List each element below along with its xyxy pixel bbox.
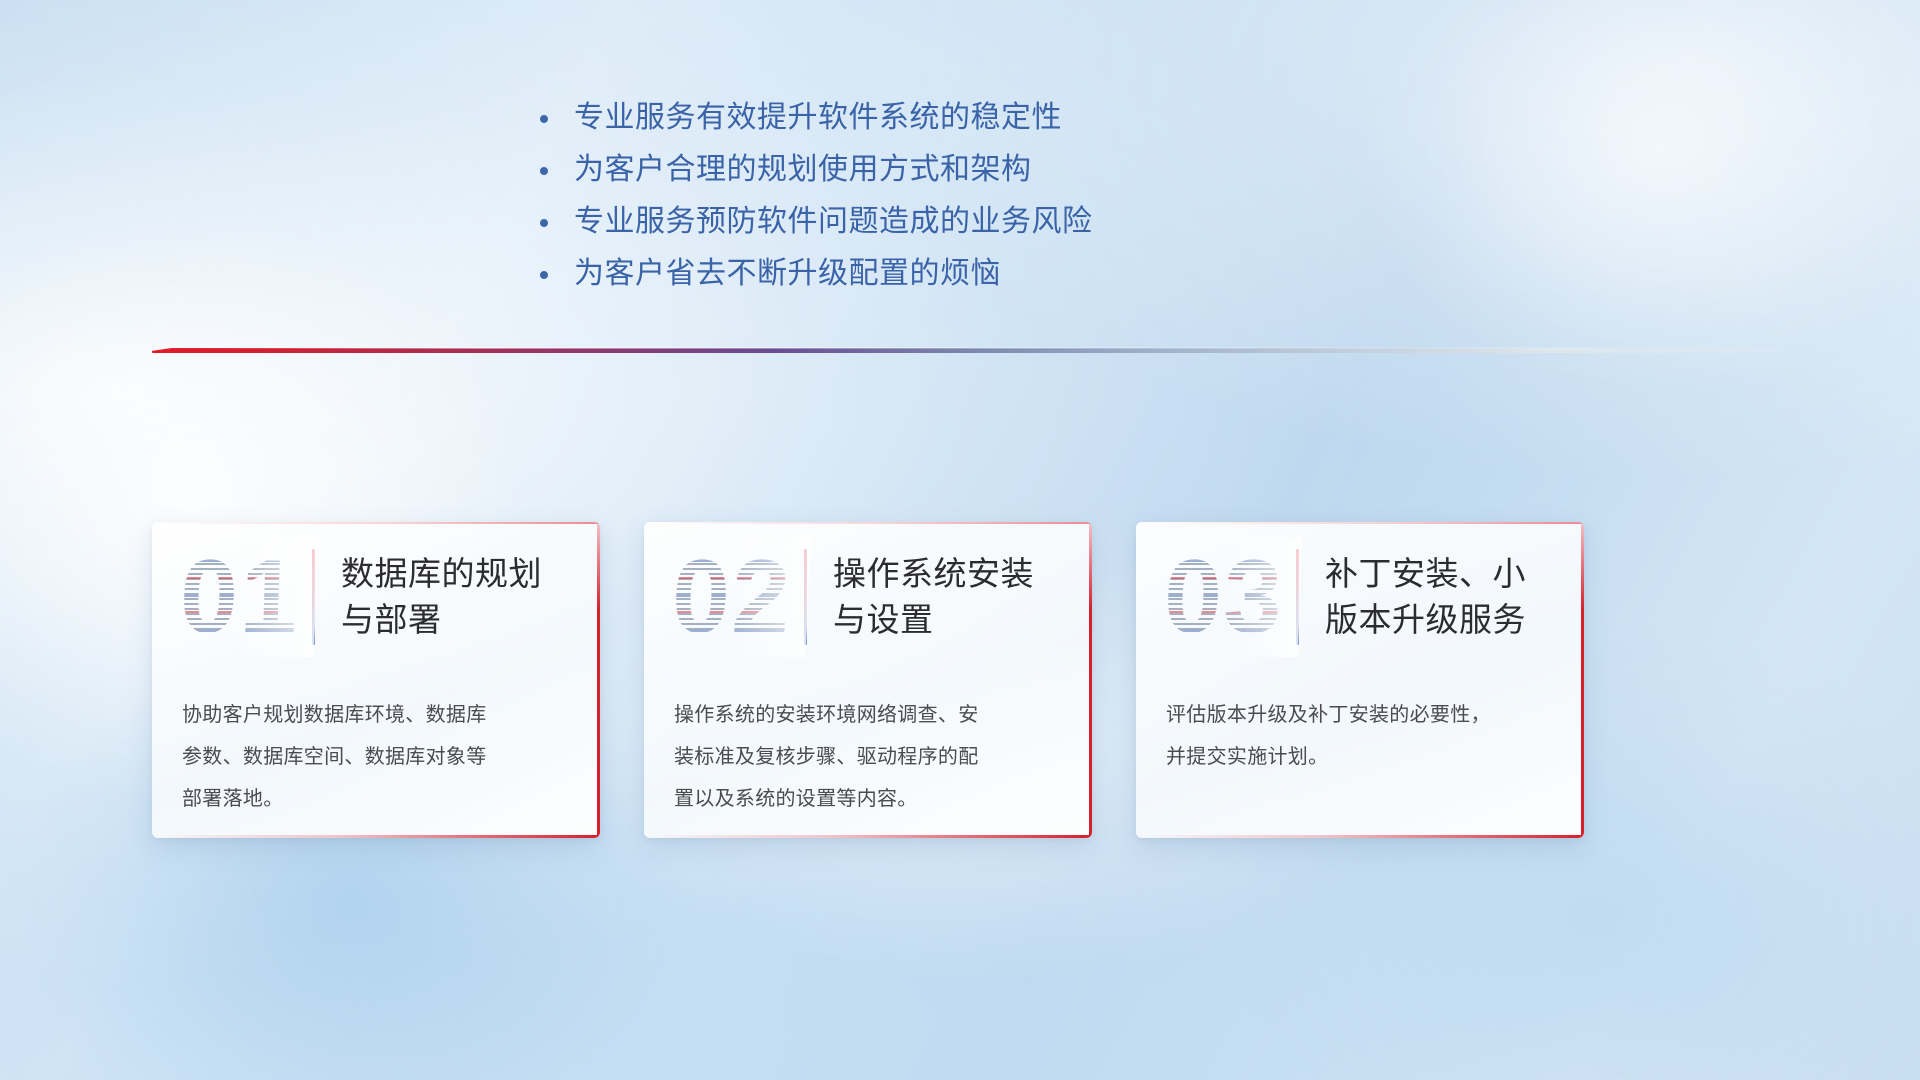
- bullet-text: 专业服务预防软件问题造成的业务风险: [574, 196, 1093, 240]
- card-title: 补丁安装、小 版本升级服务: [1325, 551, 1526, 643]
- list-item: 为客户合理的规划使用方式和架构: [540, 144, 1240, 196]
- card-bottom-accent: [1136, 835, 1584, 838]
- card-body-text: 评估版本升级及补丁安装的必要性， 并提交实施计划。: [1136, 672, 1584, 778]
- card-number-tint: 01: [172, 543, 308, 651]
- service-card-03[interactable]: 0303 补丁安装、小 版本升级服务 评估版本升级及补丁安装的必要性， 并提交实…: [1136, 522, 1584, 838]
- card-accent-bar: [312, 549, 315, 645]
- card-header: 0101 数据库的规划 与部署: [152, 522, 600, 672]
- service-card-02[interactable]: 0202 操作系统安装 与设置 操作系统的安装环境网络调查、安 装标准及复核步骤…: [644, 522, 1092, 838]
- bullet-text: 为客户省去不断升级配置的烦恼: [574, 248, 1001, 292]
- bullet-dot-icon: [540, 157, 574, 179]
- slide-root: 专业服务有效提升软件系统的稳定性 为客户合理的规划使用方式和架构 专业服务预防软…: [0, 0, 1920, 1080]
- card-number: 0101: [172, 543, 308, 651]
- bullet-text: 专业服务有效提升软件系统的稳定性: [574, 92, 1062, 136]
- card-number-fade: [162, 537, 318, 657]
- list-item: 专业服务预防软件问题造成的业务风险: [540, 196, 1240, 248]
- card-header: 0202 操作系统安装 与设置: [644, 522, 1092, 672]
- bullet-dot-icon: [540, 261, 574, 283]
- card-number: 0303: [1156, 543, 1292, 651]
- divider-highlight: [152, 347, 1782, 349]
- bullet-dot-icon: [540, 105, 574, 127]
- card-number: 0202: [664, 543, 800, 651]
- section-divider: [152, 342, 1782, 364]
- card-accent-bar: [804, 549, 807, 645]
- card-number-tint: 03: [1156, 543, 1292, 651]
- card-body-text: 操作系统的安装环境网络调查、安 装标准及复核步骤、驱动程序的配 置以及系统的设置…: [644, 672, 1092, 820]
- background-glow-top-right: [1280, 0, 1920, 460]
- card-title: 操作系统安装 与设置: [833, 551, 1034, 643]
- card-bottom-accent: [644, 835, 1092, 838]
- card-title: 数据库的规划 与部署: [341, 551, 542, 643]
- card-accent-bar: [1296, 549, 1299, 645]
- card-number-fade: [1146, 537, 1302, 657]
- card-header: 0303 补丁安装、小 版本升级服务: [1136, 522, 1584, 672]
- card-group: 0101 数据库的规划 与部署 协助客户规划数据库环境、数据库 参数、数据库空间…: [152, 522, 1786, 838]
- card-body-text: 协助客户规划数据库环境、数据库 参数、数据库空间、数据库对象等 部署落地。: [152, 672, 600, 820]
- card-number-fade: [654, 537, 810, 657]
- card-number-tint: 02: [664, 543, 800, 651]
- card-bottom-accent: [152, 835, 600, 838]
- bullet-text: 为客户合理的规划使用方式和架构: [574, 144, 1032, 188]
- service-card-01[interactable]: 0101 数据库的规划 与部署 协助客户规划数据库环境、数据库 参数、数据库空间…: [152, 522, 600, 838]
- list-item: 专业服务有效提升软件系统的稳定性: [540, 92, 1240, 144]
- bullet-dot-icon: [540, 209, 574, 231]
- bullet-list: 专业服务有效提升软件系统的稳定性 为客户合理的规划使用方式和架构 专业服务预防软…: [540, 92, 1240, 300]
- list-item: 为客户省去不断升级配置的烦恼: [540, 248, 1240, 300]
